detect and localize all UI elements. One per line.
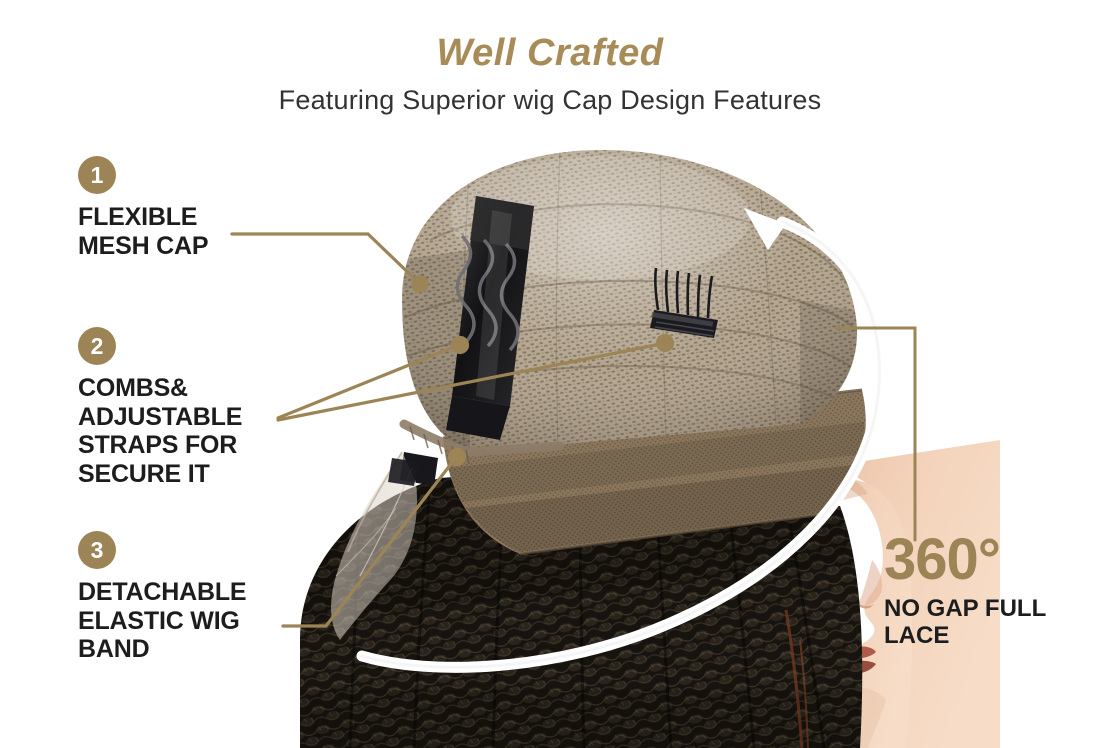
callout-badge-2: 2	[78, 327, 116, 365]
callout-combs-adjustable-straps: 2 COMBS& ADJUSTABLE STRAPS FOR SECURE IT	[78, 327, 242, 488]
page-title: Well Crafted	[0, 34, 1100, 74]
callout-label-3: DETACHABLE ELASTIC WIG BAND	[78, 578, 246, 664]
page-subtitle: Featuring Superior wig Cap Design Featur…	[0, 86, 1100, 116]
header: Well Crafted Featuring Superior wig Cap …	[0, 34, 1100, 116]
callout-badge-1: 1	[78, 156, 116, 194]
callout-flexible-mesh-cap: 1 FLEXIBLE MESH CAP	[78, 156, 208, 260]
callout-badge-3: 3	[78, 531, 116, 569]
callout-detachable-elastic-band: 3 DETACHABLE ELASTIC WIG BAND	[78, 531, 246, 664]
degree-label: NO GAP FULL LACE	[884, 595, 1046, 650]
degree-value: 360°	[884, 532, 1046, 587]
callout-360-no-gap-full-lace: 360° NO GAP FULL LACE	[884, 532, 1046, 650]
infographic-canvas: Well Crafted Featuring Superior wig Cap …	[0, 0, 1100, 748]
callout-label-1: FLEXIBLE MESH CAP	[78, 203, 208, 260]
callout-label-2: COMBS& ADJUSTABLE STRAPS FOR SECURE IT	[78, 374, 242, 488]
